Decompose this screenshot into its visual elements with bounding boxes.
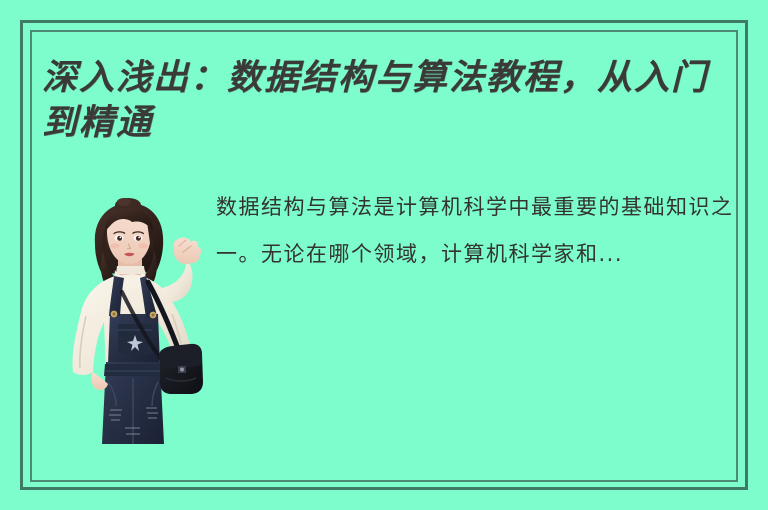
article-card: 深入浅出：数据结构与算法教程，从入门到精通 <box>0 0 768 510</box>
article-title: 深入浅出：数据结构与算法教程，从入门到精通 <box>42 55 732 145</box>
illustration-young-woman-in-denim-overalls <box>62 196 210 444</box>
article-excerpt: 数据结构与算法是计算机科学中最重要的基础知识之一。无论在哪个领域，计算机科学家和… <box>216 184 734 278</box>
